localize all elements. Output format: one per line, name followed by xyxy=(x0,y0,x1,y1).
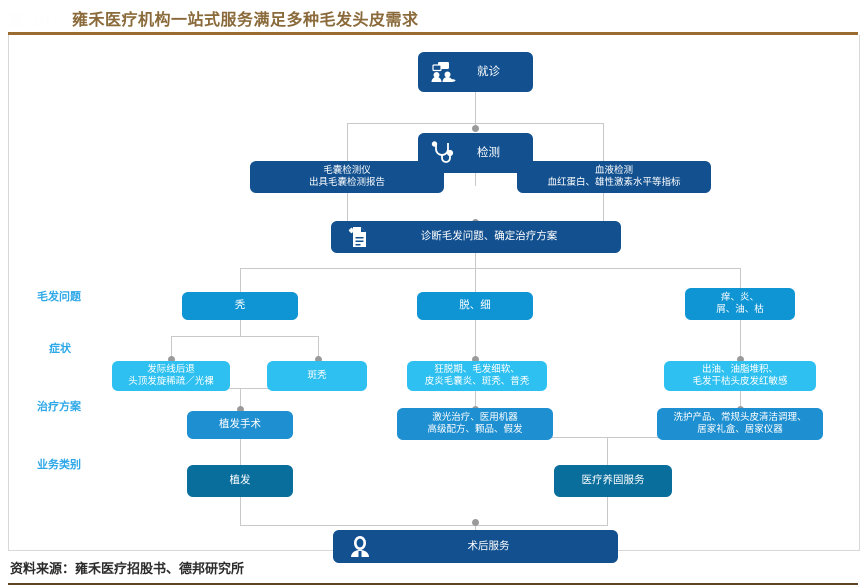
report-document-icon xyxy=(345,224,371,250)
connector-medical-drop xyxy=(607,437,608,465)
connector-testing-trunk xyxy=(475,173,476,186)
row-label-treatment: 治疗方案 xyxy=(37,398,81,414)
row-label-hair-problem: 毛发问题 xyxy=(37,288,81,304)
node-symptom-scalp[interactable]: 出油、油脂堆积、 毛发干枯头皮发红敏感 xyxy=(664,361,816,391)
user-service-icon xyxy=(347,534,373,560)
node-problem-shedding[interactable]: 脱、细 xyxy=(417,292,533,320)
connector-dot xyxy=(472,519,479,526)
node-symptom-hairline[interactable]: 发际线后退 头顶发旋稀疏／光裸 xyxy=(112,361,230,391)
connector-dot xyxy=(472,125,479,132)
connector-shed-down xyxy=(475,320,476,360)
row-label-symptom: 症状 xyxy=(49,340,71,356)
node-symptom-alopecia[interactable]: 斑秃 xyxy=(267,361,367,391)
connector-problem-left-drop xyxy=(240,268,241,293)
node-business-medical[interactable]: 医疗养固服务 xyxy=(554,465,672,497)
node-treatment-laser[interactable]: 激光治疗、医用机器 高级配方、颗品、假发 xyxy=(397,408,553,440)
node-diagnosis-label: 诊断毛发问题、确定治疗方案 xyxy=(395,230,558,243)
node-visit-label: 就诊 xyxy=(451,65,500,79)
flowchart-canvas: 毛发问题 症状 治疗方案 业务类别 就诊 xyxy=(8,35,860,551)
node-problem-scalp[interactable]: 痒、炎、 屑、油、枯 xyxy=(685,288,795,320)
page-title: 雍禾医疗机构一站式服务满足多种毛发头皮需求 xyxy=(72,6,419,30)
node-aftercare-label: 术后服务 xyxy=(442,540,510,553)
connector-testing-bus xyxy=(347,123,603,124)
node-treatment-surgery-label: 植发手术 xyxy=(219,418,261,431)
consultation-icon xyxy=(430,59,456,85)
node-business-transplant[interactable]: 植发 xyxy=(187,465,293,497)
node-problem-scalp-label: 痒、炎、 屑、油、枯 xyxy=(716,292,764,316)
connector-problems-bus xyxy=(240,268,740,269)
node-treatment-care-label: 洗护产品、常规头皮清洁调理、 居家礼盒、居家仪器 xyxy=(673,412,806,436)
node-symptom-hairline-label: 发际线后退 头顶发旋稀疏／光裸 xyxy=(128,364,214,388)
node-treatment-surgery[interactable]: 植发手术 xyxy=(187,411,293,439)
node-follicle-detector-label: 毛囊检测仪 出具毛囊检测报告 xyxy=(309,165,385,189)
connector-medical-down xyxy=(607,492,608,526)
node-symptom-alopecia-label: 斑秃 xyxy=(307,370,326,382)
node-problem-bald-label: 秃 xyxy=(235,299,246,312)
node-problem-bald[interactable]: 秃 xyxy=(182,292,298,320)
connector-scalp-down xyxy=(740,320,741,360)
node-symptom-shedding-label: 狂脱期、毛发细软、 皮炎毛囊炎、斑秃、普秃 xyxy=(425,364,530,388)
source-note: 资料来源：雍禾医疗招股书、德邦研究所 xyxy=(10,558,244,577)
connector-testing-left-drop xyxy=(347,123,348,161)
connector-testing-right-drop xyxy=(603,123,604,161)
figure-number: 图 20： xyxy=(8,9,67,30)
connector-aftercare-bus xyxy=(240,525,607,526)
node-diagnosis[interactable]: 诊断毛发问题、确定治疗方案 xyxy=(331,221,621,253)
node-business-medical-label: 医疗养固服务 xyxy=(582,474,645,487)
node-problem-shedding-label: 脱、细 xyxy=(459,299,491,312)
figure-header: 图 20： 雍禾医疗机构一站式服务满足多种毛发头皮需求 xyxy=(0,0,866,33)
node-aftercare[interactable]: 术后服务 xyxy=(333,530,618,563)
node-business-transplant-label: 植发 xyxy=(230,474,251,487)
node-symptom-scalp-label: 出油、油脂堆积、 毛发干枯头皮发红敏感 xyxy=(692,364,787,388)
node-testing-label: 检测 xyxy=(451,146,500,160)
node-follicle-detector[interactable]: 毛囊检测仪 出具毛囊检测报告 xyxy=(250,161,444,193)
node-blood-test[interactable]: 血液检测 血红蛋白、雄性激素水平等指标 xyxy=(517,161,711,193)
node-treatment-care[interactable]: 洗护产品、常规头皮清洁调理、 居家礼盒、居家仪器 xyxy=(657,408,823,440)
connector-transplant-down xyxy=(240,492,241,526)
row-label-business-type: 业务类别 xyxy=(37,456,81,472)
node-blood-test-label: 血液检测 血红蛋白、雄性激素水平等指标 xyxy=(547,165,680,189)
node-treatment-laser-label: 激光治疗、医用机器 高级配方、颗品、假发 xyxy=(427,412,522,436)
connector-bald-down xyxy=(240,320,241,337)
connector-problem-mid-drop xyxy=(475,268,476,293)
connector-bald-bus xyxy=(171,336,318,337)
node-visit[interactable]: 就诊 xyxy=(418,52,533,92)
node-symptom-shedding[interactable]: 狂脱期、毛发细软、 皮炎毛囊炎、斑秃、普秃 xyxy=(407,361,547,391)
connector-diagnosis-down xyxy=(475,253,476,269)
footer-divider xyxy=(8,583,858,585)
